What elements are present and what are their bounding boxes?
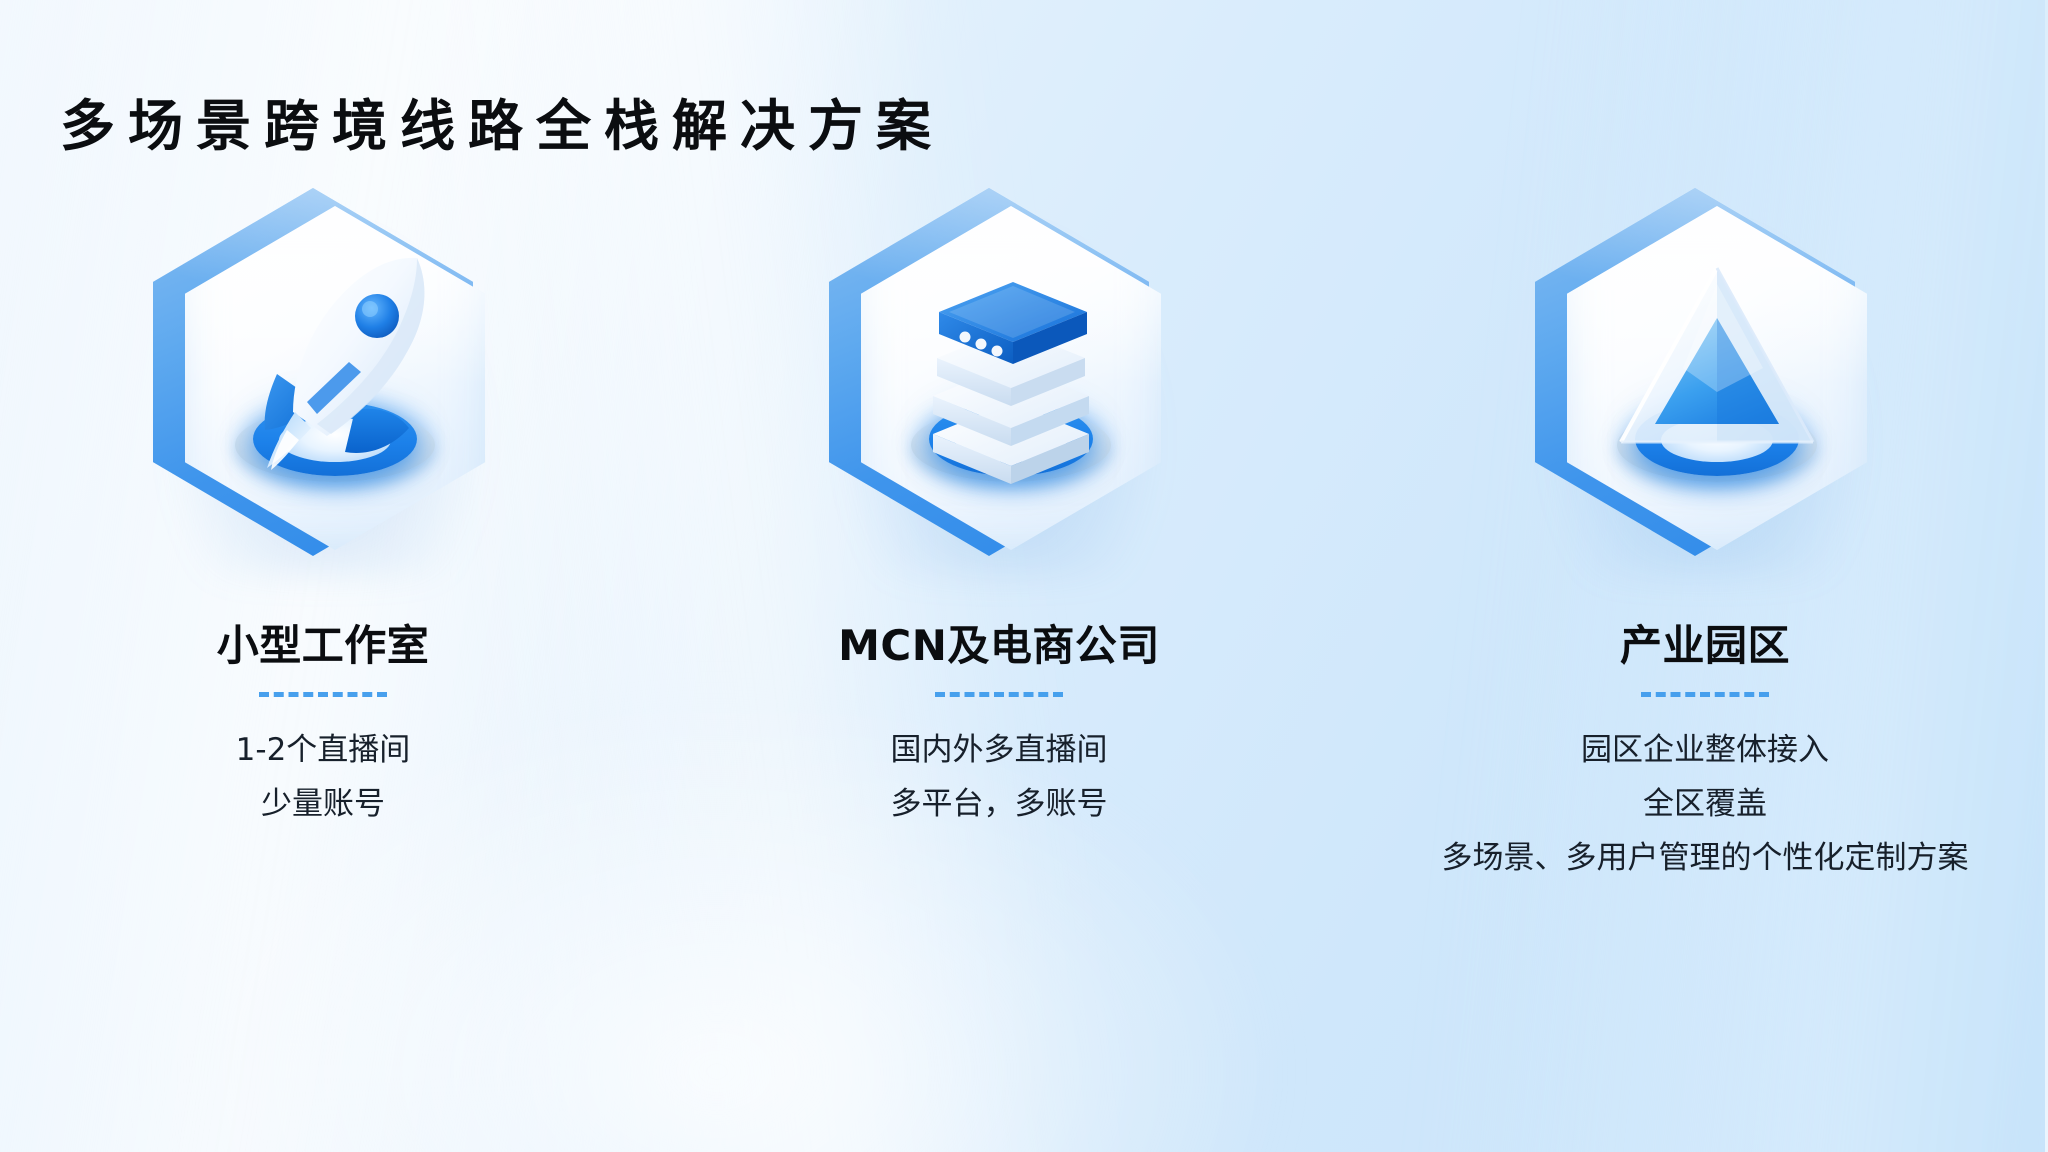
card-body-line: 少量账号: [236, 777, 411, 831]
hexagon-badge: [131, 170, 515, 590]
card-body-line: 全区覆盖: [1442, 777, 1969, 831]
card-body-line: 国内外多直播间: [891, 723, 1108, 777]
solution-card[interactable]: 小型工作室 1-2个直播间 少量账号: [0, 170, 666, 885]
card-divider: [935, 692, 1063, 697]
card-title: MCN及电商公司: [838, 612, 1160, 673]
solution-card[interactable]: MCN及电商公司 国内外多直播间 多平台，多账号: [656, 170, 1342, 885]
card-body-line: 多场景、多用户管理的个性化定制方案: [1442, 831, 1969, 885]
card-divider: [1641, 692, 1769, 697]
hexagon-badge: [1513, 170, 1897, 590]
page-title: 多场景跨境线路全栈解决方案: [60, 94, 944, 159]
card-body: 园区企业整体接入 全区覆盖 多场景、多用户管理的个性化定制方案: [1442, 723, 1969, 885]
solution-card[interactable]: 产业园区 园区企业整体接入 全区覆盖 多场景、多用户管理的个性化定制方案: [1362, 170, 2048, 885]
hexagon-badge: [807, 170, 1191, 590]
card-body: 1-2个直播间 少量账号: [236, 723, 411, 831]
card-divider: [259, 692, 387, 697]
card-body-line: 多平台，多账号: [891, 777, 1108, 831]
solution-card-row: 小型工作室 1-2个直播间 少量账号: [0, 170, 2048, 885]
card-body-line: 1-2个直播间: [236, 723, 411, 777]
card-body-line: 园区企业整体接入: [1442, 723, 1969, 777]
card-title: 小型工作室: [217, 612, 430, 673]
card-title: 产业园区: [1620, 612, 1790, 673]
slide-canvas: 多场景跨境线路全栈解决方案: [0, 0, 2048, 1152]
card-body: 国内外多直播间 多平台，多账号: [891, 723, 1108, 831]
